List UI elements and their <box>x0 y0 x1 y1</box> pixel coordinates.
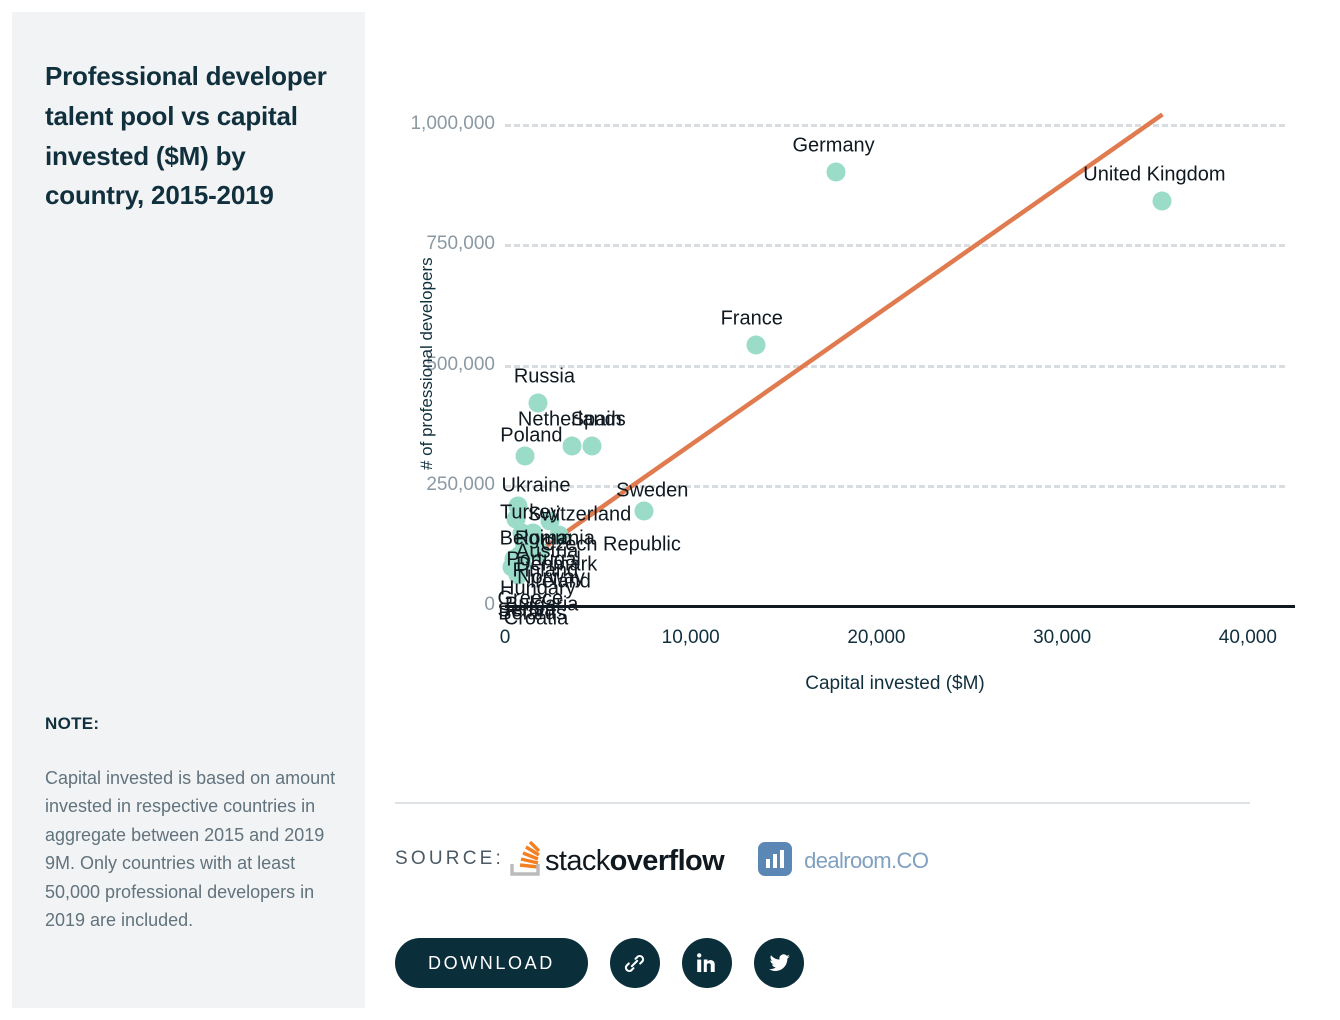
twitter-icon <box>766 950 792 976</box>
linkedin-share-button[interactable] <box>682 938 732 988</box>
data-point-label: Germany <box>792 135 874 158</box>
note-body: Capital invested is based on amount inve… <box>45 764 340 935</box>
x-axis-label: Capital invested ($M) <box>805 673 985 695</box>
data-point-label: Switzerland <box>528 503 631 526</box>
stackoverflow-icon <box>508 840 542 878</box>
copy-link-button[interactable] <box>610 938 660 988</box>
data-point[interactable] <box>826 163 845 182</box>
y-axis-label: # of professional developers <box>417 257 437 470</box>
data-point-label: Sweden <box>616 480 688 503</box>
data-point-label: Spain <box>571 409 622 432</box>
dealroom-wordmark: dealroom.CO <box>804 843 928 876</box>
scatter-plot: 0250,000500,000750,0001,000,000 010,0002… <box>395 60 1295 680</box>
footer-divider <box>395 802 1250 804</box>
data-point-label: Ukraine <box>502 475 571 498</box>
linkedin-icon <box>694 951 719 976</box>
source-label: SOURCE: <box>395 848 504 870</box>
data-point[interactable] <box>1153 192 1172 211</box>
data-point[interactable] <box>635 502 654 521</box>
source-row: SOURCE: stackoverflow dealroom.CO <box>395 838 928 880</box>
data-point[interactable] <box>583 437 602 456</box>
dealroom-logo: dealroom.CO <box>758 842 928 876</box>
stackoverflow-logo: stackoverflow <box>508 840 724 878</box>
action-button-row: DOWNLOAD <box>395 938 804 988</box>
link-icon <box>622 951 647 976</box>
data-point-label: Russia <box>514 366 575 389</box>
page-title: Professional developer talent pool vs ca… <box>45 57 335 216</box>
data-point-label: France <box>721 308 783 331</box>
download-button[interactable]: DOWNLOAD <box>395 938 588 988</box>
twitter-share-button[interactable] <box>754 938 804 988</box>
info-sidebar: Professional developer talent pool vs ca… <box>12 12 365 1008</box>
data-point[interactable] <box>746 336 765 355</box>
data-point-label: Croatia <box>504 608 568 631</box>
data-point[interactable] <box>516 446 535 465</box>
data-point-label: Poland <box>500 424 562 447</box>
data-point[interactable] <box>562 437 581 456</box>
note-heading: NOTE: <box>45 714 99 734</box>
dealroom-icon <box>758 842 792 876</box>
data-point-label: United Kingdom <box>1083 164 1225 187</box>
stackoverflow-wordmark: stackoverflow <box>545 845 724 878</box>
